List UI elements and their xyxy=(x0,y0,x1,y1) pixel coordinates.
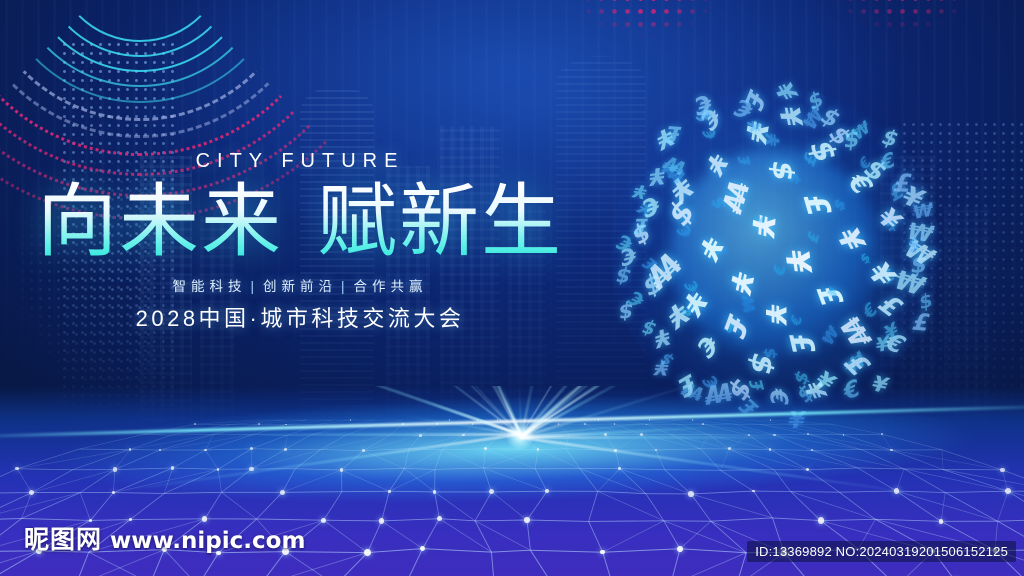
currency-symbol: $ xyxy=(880,210,900,237)
currency-symbol: € xyxy=(680,279,704,295)
burst-flare xyxy=(220,433,520,436)
currency-symbol: $ xyxy=(766,158,800,183)
currency-symbol: € xyxy=(879,328,912,359)
network-node xyxy=(280,490,285,495)
network-node xyxy=(249,467,254,472)
network-node xyxy=(433,490,437,494)
burst-ray xyxy=(520,386,545,437)
burst-ray xyxy=(351,386,521,436)
network-node xyxy=(194,423,196,425)
currency-symbol: £ xyxy=(714,245,732,255)
currency-symbol: £ xyxy=(871,290,910,322)
network-node xyxy=(818,517,824,523)
network-node xyxy=(646,424,648,426)
currency-symbol: ¥ xyxy=(869,204,908,235)
horizon-glow xyxy=(0,386,1024,523)
network-node xyxy=(350,419,351,420)
network-node xyxy=(489,489,494,494)
currency-symbol: $ xyxy=(919,289,933,315)
network-node xyxy=(462,434,465,437)
currency-symbol: ₩ xyxy=(831,314,877,351)
currency-symbol: £ xyxy=(781,333,822,354)
burst-ray xyxy=(520,386,643,437)
network-node xyxy=(258,423,260,425)
network-node xyxy=(545,419,546,420)
currency-symbol: $ xyxy=(877,125,903,152)
currency-symbol: ¥ xyxy=(759,301,792,328)
currency-symbol: ¥ xyxy=(895,181,930,214)
currency-symbol: $ xyxy=(783,169,803,187)
currency-symbol: $ xyxy=(676,300,703,320)
currency-symbol: € xyxy=(840,170,880,198)
currency-symbol: ¥ xyxy=(665,167,697,211)
network-node xyxy=(129,448,132,451)
currency-symbol: € xyxy=(857,154,874,175)
network-node xyxy=(113,467,118,472)
burst-ray xyxy=(420,399,521,436)
currency-symbol: $ xyxy=(617,299,635,325)
network-node xyxy=(285,424,287,426)
network-node xyxy=(484,447,487,450)
network-node xyxy=(340,468,343,471)
currency-symbol: $ xyxy=(707,195,732,211)
tagline-separator-1: | xyxy=(250,279,259,294)
light-burst xyxy=(520,436,522,438)
network-node xyxy=(811,449,813,451)
currency-symbol: £ xyxy=(795,193,838,217)
burst-ray xyxy=(442,386,523,436)
currency-symbol: € xyxy=(789,313,806,329)
page-title: 向未来赋新生 xyxy=(0,181,600,263)
network-node xyxy=(640,433,643,436)
currency-symbol: € xyxy=(620,240,636,270)
globe-halo xyxy=(610,88,940,418)
network-node xyxy=(497,419,498,420)
network-node xyxy=(524,419,525,420)
network-node xyxy=(677,546,683,552)
network-node xyxy=(449,419,450,420)
network-node xyxy=(584,423,586,425)
currency-symbol: $ xyxy=(856,154,894,186)
burst-ray xyxy=(457,386,521,436)
currency-symbol: ¥ xyxy=(825,284,840,300)
network-node xyxy=(545,489,549,493)
currency-symbol: ¥ xyxy=(772,107,809,127)
currency-symbol: £ xyxy=(836,349,878,381)
currency-symbol: ¥ xyxy=(763,132,784,149)
network-node xyxy=(600,550,605,555)
currency-symbol: £ xyxy=(631,214,650,238)
currency-symbol: ₩ xyxy=(800,102,827,135)
currency-symbol: $ xyxy=(719,322,741,335)
network-node xyxy=(402,423,404,425)
network-node xyxy=(769,448,772,451)
burst-ray xyxy=(403,386,521,436)
network-node xyxy=(807,433,809,435)
currency-symbol: $ xyxy=(906,233,921,258)
currency-symbol: $ xyxy=(629,217,653,253)
globe-core xyxy=(670,148,880,358)
currency-symbol: ₩ xyxy=(659,151,691,178)
currency-symbol: $ xyxy=(842,126,860,154)
burst-ray xyxy=(520,386,647,439)
burst-ray xyxy=(520,386,714,439)
network-node xyxy=(437,516,442,521)
network-node xyxy=(890,449,893,452)
currency-symbol: £ xyxy=(880,264,897,288)
currency-symbol: € xyxy=(696,100,725,137)
currency-symbol: $ xyxy=(909,251,930,279)
currency-symbol: ¥ xyxy=(630,180,651,202)
currency-symbol: £ xyxy=(805,229,823,247)
network-node xyxy=(843,434,845,436)
network-node xyxy=(284,448,287,451)
currency-symbol: ¥ xyxy=(744,119,768,133)
network-node xyxy=(692,419,693,420)
burst-flare xyxy=(520,436,936,497)
currency-symbol: ₩ xyxy=(888,266,930,301)
network-node xyxy=(558,423,560,425)
network-node xyxy=(171,466,175,470)
currency-symbol: $ xyxy=(814,102,847,132)
network-node xyxy=(614,423,616,425)
currency-symbol: $ xyxy=(761,346,780,360)
currency-symbol: £ xyxy=(909,309,933,337)
network-node xyxy=(217,468,220,471)
currency-symbol: ₩ xyxy=(903,219,937,248)
currency-symbol: ¥ xyxy=(777,249,819,274)
currency-symbol: $ xyxy=(806,85,825,115)
currency-symbol: $ xyxy=(638,316,660,339)
burst-ray xyxy=(520,386,626,438)
tagline-3: 合作共赢 xyxy=(354,279,428,294)
currency-symbol: £ xyxy=(799,148,820,170)
currency-symbol: ¥ xyxy=(875,332,890,357)
burst-ray xyxy=(520,386,579,437)
currency-symbol: £ xyxy=(891,168,915,197)
currency-symbol: ¥ xyxy=(739,116,775,148)
halftone-dots-right xyxy=(900,120,1024,420)
tagline-row: 智能科技|创新前沿|合作共赢 xyxy=(0,275,600,295)
currency-symbol: € xyxy=(861,299,881,325)
currency-symbol: $ xyxy=(832,196,849,215)
network-node xyxy=(364,549,371,556)
currency-symbol: € xyxy=(753,214,768,223)
network-node xyxy=(773,434,775,436)
burst-core xyxy=(506,422,534,450)
burst-ray xyxy=(292,386,521,436)
watermark-site-cn: 昵图网 xyxy=(24,520,102,556)
headline-left: 向未来 xyxy=(37,175,283,268)
currency-symbol: $ xyxy=(857,249,872,267)
poster-text-block: CITY FUTURE 向未来赋新生 智能科技|创新前沿|合作共赢 2028中国… xyxy=(0,150,600,333)
network-node xyxy=(748,434,750,436)
currency-symbol: £ xyxy=(692,105,717,126)
currency-symbol: ₩ xyxy=(850,117,873,146)
watermark: 昵图网 www.nipic.com xyxy=(24,520,305,556)
network-node xyxy=(362,449,365,452)
network-node xyxy=(939,519,944,524)
burst-ray xyxy=(520,434,574,438)
network-node xyxy=(728,447,731,450)
currency-symbol: ₩ xyxy=(819,322,842,350)
pink-halftone-cluster-top-center xyxy=(556,0,736,76)
currency-symbol: € xyxy=(772,263,789,277)
tagline-1: 智能科技 xyxy=(172,279,246,294)
concentric-arcs-decoration xyxy=(0,0,350,120)
network-node xyxy=(388,490,391,493)
currency-symbol: £ xyxy=(886,177,906,207)
currency-symbol: € xyxy=(694,88,712,121)
currency-symbol: ¥ xyxy=(700,145,732,181)
currency-symbol-globe: ¥£€$₩¥£$€₩¥$£¥€$₩¥£$€¥$£₩¥€$£¥$₩€¥£$¥€$£… xyxy=(610,88,940,418)
burst-flare xyxy=(520,436,820,439)
burst-ray xyxy=(520,386,710,438)
currency-symbol: £ xyxy=(736,155,755,165)
burst-ray xyxy=(520,386,645,438)
network-node xyxy=(881,433,884,436)
network-node xyxy=(1000,468,1005,473)
tagline-2: 创新前沿 xyxy=(263,279,337,294)
page-kicker: CITY FUTURE xyxy=(0,150,600,173)
currency-symbol: $ xyxy=(641,267,664,304)
network-node xyxy=(806,468,809,471)
network-node xyxy=(604,433,607,436)
currency-symbol: ¥ xyxy=(654,120,677,155)
currency-symbol: £ xyxy=(717,307,754,345)
currency-symbol: ₩ xyxy=(841,346,870,382)
currency-symbol: ¥ xyxy=(724,265,760,299)
network-node xyxy=(112,491,115,494)
currency-symbol: € xyxy=(641,189,661,223)
image-id-label: ID:13369892 NO:20240319201506152125 xyxy=(747,541,1016,562)
currency-symbol: £ xyxy=(809,284,850,308)
burst-ray xyxy=(371,386,522,436)
network-node xyxy=(702,423,704,425)
network-node xyxy=(1005,488,1011,494)
network-node xyxy=(524,517,529,522)
network-node xyxy=(618,467,621,470)
network-node xyxy=(419,434,422,437)
currency-symbol: € xyxy=(880,147,896,176)
burst-ray xyxy=(414,386,522,436)
network-node xyxy=(770,419,771,420)
burst-ray xyxy=(520,386,578,438)
currency-symbol: $ xyxy=(822,122,859,150)
currency-symbol: ₩ xyxy=(897,235,941,271)
currency-symbol: € xyxy=(673,222,697,240)
currency-symbol: £ xyxy=(662,120,685,147)
currency-symbol: € xyxy=(623,287,650,311)
network-node xyxy=(752,490,755,493)
network-node xyxy=(655,449,657,451)
network-node xyxy=(420,546,425,551)
currency-symbol: ₩ xyxy=(642,242,685,296)
headline-right: 赋新生 xyxy=(317,175,563,268)
horizon-line xyxy=(0,404,1024,438)
currency-symbol: $ xyxy=(663,191,699,235)
currency-symbol: $ xyxy=(745,348,780,380)
currency-symbol: $ xyxy=(655,350,678,370)
currency-symbol: ₩ xyxy=(913,199,933,224)
currency-symbol: ¥ xyxy=(677,282,713,323)
tagline-separator-2: | xyxy=(341,279,350,294)
network-node xyxy=(321,518,326,523)
currency-symbol: ₩ xyxy=(738,295,759,312)
network-node xyxy=(477,419,478,420)
currency-symbol: ¥ xyxy=(648,161,666,190)
currency-symbol: ¥ xyxy=(653,321,671,352)
burst-ray xyxy=(518,386,522,436)
network-node xyxy=(379,518,385,524)
network-node xyxy=(250,447,253,450)
poster-canvas: ¥£€$₩¥£$€₩¥$£¥€$₩¥£$€¥$£₩¥€$£¥$₩€¥£$¥€$£… xyxy=(0,0,1024,576)
burst-flare xyxy=(104,433,520,494)
currency-symbol: ¥ xyxy=(663,293,693,336)
network-node xyxy=(29,490,34,495)
burst-ray xyxy=(520,386,716,438)
network-node xyxy=(159,449,162,452)
currency-symbol: ¥ xyxy=(882,317,900,346)
network-node xyxy=(649,419,650,420)
burst-ray xyxy=(480,386,523,436)
currency-symbol: ¥ xyxy=(744,210,780,241)
currency-symbol: £ xyxy=(638,254,662,273)
event-title: 2028中国·城市科技交流大会 xyxy=(0,301,600,333)
currency-symbol: ¥ xyxy=(767,80,804,104)
currency-symbol: ¥ xyxy=(632,196,661,221)
watermark-site-url: www.nipic.com xyxy=(110,528,305,554)
currency-symbol: € xyxy=(612,230,637,255)
network-node xyxy=(537,448,540,451)
pink-halftone-cluster-top-right xyxy=(792,0,1012,90)
currency-symbol: ¥ xyxy=(859,258,904,291)
currency-symbol: ₩ xyxy=(657,159,692,187)
currency-symbol: ¥ xyxy=(693,229,728,267)
currency-symbol: $ xyxy=(612,264,634,289)
currency-symbol: ¥ xyxy=(652,356,672,380)
burst-ray xyxy=(520,386,734,438)
currency-symbol: ₩ xyxy=(716,173,755,219)
network-node xyxy=(15,467,19,471)
burst-ray xyxy=(501,386,522,436)
network-node xyxy=(688,491,693,496)
network-node xyxy=(894,488,899,493)
burst-ray xyxy=(520,425,721,438)
currency-symbol: € xyxy=(729,93,759,123)
currency-symbol: ¥ xyxy=(827,226,871,255)
currency-symbol: € xyxy=(698,126,721,142)
currency-symbol: € xyxy=(692,328,721,365)
network-node xyxy=(614,449,617,452)
currency-symbol: £ xyxy=(739,84,770,117)
network-node xyxy=(204,449,207,452)
currency-symbol: $ xyxy=(801,138,844,164)
